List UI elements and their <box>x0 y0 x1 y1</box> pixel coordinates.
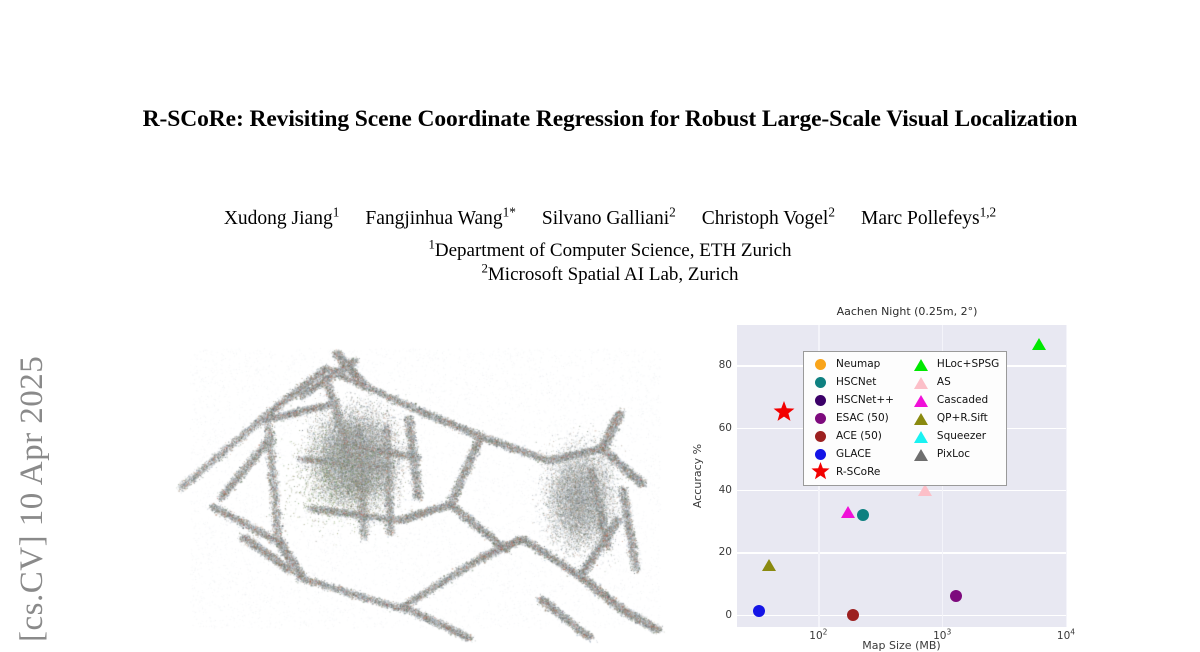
accuracy-vs-mapsize-chart: Aachen Night (0.25m, 2°) Accuracy % Map … <box>697 305 1077 648</box>
legend-label: HSCNet++ <box>836 395 894 406</box>
page-title: R-SCoRe: Revisiting Scene Coordinate Reg… <box>140 104 1080 135</box>
legend-marker-icon <box>910 356 932 373</box>
legend-label: Neumap <box>836 359 880 370</box>
y-tick-label: 0 <box>702 609 732 621</box>
legend-label: HSCNet <box>836 377 876 388</box>
legend-marker-icon <box>809 446 831 463</box>
author-name: Christoph Vogel2 <box>702 208 835 229</box>
author-affiliation-marker: 2 <box>669 205 676 220</box>
affiliation-2: 2Microsoft Spatial AI Lab, Zurich <box>140 264 1080 286</box>
legend-label: Cascaded <box>937 395 988 406</box>
legend-label: ESAC (50) <box>836 413 889 424</box>
y-tick-label: 80 <box>702 359 732 371</box>
legend-marker-icon <box>809 464 831 481</box>
data-point-ace-50 <box>847 609 859 621</box>
legend-marker-icon <box>910 410 932 427</box>
legend-item-pixloc[interactable]: PixLoc <box>910 446 999 463</box>
author-affiliation-marker: 1 <box>333 205 340 220</box>
legend-item-r-score[interactable]: R-SCoRe <box>809 464 894 481</box>
author-affiliation-marker: 1,2 <box>980 205 997 220</box>
legend-marker-icon <box>809 392 831 409</box>
legend-label: R-SCoRe <box>836 467 880 478</box>
legend-item-qp-r-sift[interactable]: QP+R.Sift <box>910 410 999 427</box>
legend-item-cascaded[interactable]: Cascaded <box>910 392 999 409</box>
chart-y-axis-label: Accuracy % <box>691 444 704 508</box>
author-name: Fangjinhua Wang1* <box>365 208 516 229</box>
legend-marker-icon <box>910 446 932 463</box>
legend-item-as[interactable]: AS <box>910 374 999 391</box>
legend-label: HLoc+SPSG <box>937 359 999 370</box>
legend-marker-icon <box>809 428 831 445</box>
data-point-glace <box>753 605 765 617</box>
author-name: Silvano Galliani2 <box>542 208 676 229</box>
legend-label: Squeezer <box>937 431 986 442</box>
x-tick-label: 104 <box>1057 630 1075 642</box>
arxiv-stamp: [cs.CV] 10 Apr 2025 <box>0 0 64 648</box>
legend-column-1: NeumapHSCNetHSCNet++ESAC (50)ACE (50)GLA… <box>809 356 894 481</box>
y-tick-label: 40 <box>702 484 732 496</box>
gridline-horizontal <box>737 552 1066 553</box>
chart-legend[interactable]: NeumapHSCNetHSCNet++ESAC (50)ACE (50)GLA… <box>803 351 1007 486</box>
gridline-vertical <box>1066 325 1067 627</box>
chart-title: Aachen Night (0.25m, 2°) <box>737 305 1077 318</box>
data-point-r-score <box>773 401 795 423</box>
legend-label: ACE (50) <box>836 431 882 442</box>
author-affiliation-marker: 1* <box>503 205 516 220</box>
legend-item-ace-50[interactable]: ACE (50) <box>809 428 894 445</box>
data-point-esac-50 <box>950 590 962 602</box>
gridline-horizontal <box>737 615 1066 616</box>
legend-item-squeezer[interactable]: Squeezer <box>910 428 999 445</box>
legend-item-esac-50[interactable]: ESAC (50) <box>809 410 894 427</box>
data-point-qp-r-sift <box>762 559 776 571</box>
legend-label: PixLoc <box>937 449 970 460</box>
x-tick-label: 103 <box>933 630 951 642</box>
chart-x-axis-label: Map Size (MB) <box>737 639 1066 652</box>
author-name: Marc Pollefeys1,2 <box>861 208 996 229</box>
y-tick-label: 60 <box>702 422 732 434</box>
legend-marker-icon <box>809 410 831 427</box>
legend-marker-icon <box>809 374 831 391</box>
author-list: Xudong Jiang1Fangjinhua Wang1*Silvano Ga… <box>140 208 1080 230</box>
legend-item-hloc-spsg[interactable]: HLoc+SPSG <box>910 356 999 373</box>
legend-item-glace[interactable]: GLACE <box>809 446 894 463</box>
gridline-horizontal <box>737 490 1066 491</box>
legend-marker-icon <box>910 392 932 409</box>
author-name: Xudong Jiang1 <box>224 208 340 229</box>
affiliation-1: 1Department of Computer Science, ETH Zur… <box>140 240 1080 262</box>
legend-marker-icon <box>809 356 831 373</box>
y-tick-label: 20 <box>702 546 732 558</box>
legend-label: GLACE <box>836 449 871 460</box>
point-cloud-figure <box>150 308 710 648</box>
chart-plot-area: NeumapHSCNetHSCNet++ESAC (50)ACE (50)GLA… <box>737 325 1066 627</box>
legend-item-hscnet[interactable]: HSCNet <box>809 374 894 391</box>
legend-label: AS <box>937 377 951 388</box>
legend-label: QP+R.Sift <box>937 413 988 424</box>
legend-marker-icon <box>910 374 932 391</box>
data-point-hscnet <box>857 509 869 521</box>
legend-column-2: HLoc+SPSGASCascadedQP+R.SiftSqueezerPixL… <box>910 356 999 481</box>
data-point-cascaded <box>841 506 855 518</box>
legend-marker-icon <box>910 428 932 445</box>
legend-item-neumap[interactable]: Neumap <box>809 356 894 373</box>
author-affiliation-marker: 2 <box>828 205 835 220</box>
x-tick-label: 102 <box>809 630 827 642</box>
data-point-hloc-spsg <box>1032 338 1046 350</box>
point-cloud-canvas <box>150 308 710 648</box>
legend-item-hscnet[interactable]: HSCNet++ <box>809 392 894 409</box>
